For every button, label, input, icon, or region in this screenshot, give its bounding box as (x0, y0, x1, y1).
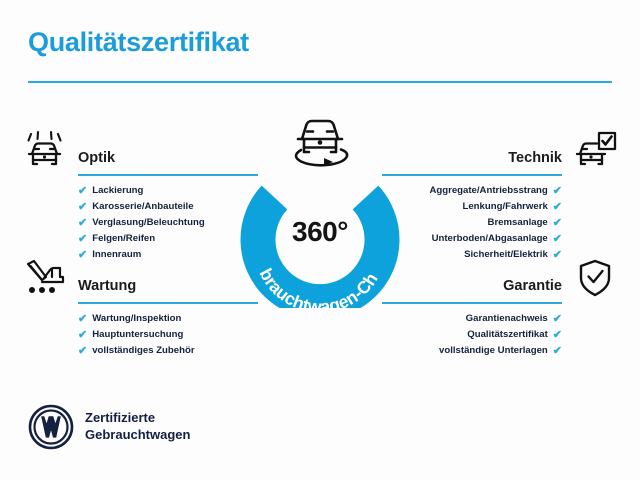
shield-check-icon (572, 258, 618, 300)
section-title: Garantie (503, 278, 562, 294)
list-item-label: Lenkung/Fahrwerk (462, 202, 547, 212)
list-item: vollständige Unterlagen✔ (382, 343, 618, 359)
check-icon: ✔ (78, 202, 87, 213)
section-header: Garantie (382, 258, 618, 304)
check-icon: ✔ (553, 314, 562, 325)
vw-lockup-line1: Zertifizierte (85, 410, 190, 427)
list-item: ✔Felgen/Reifen (22, 231, 258, 247)
certificate-page: Qualitätszertifikat (0, 0, 640, 480)
check-icon: ✔ (553, 234, 562, 245)
wrench-car-icon (22, 258, 68, 300)
list-item-label: Felgen/Reifen (92, 234, 155, 244)
section-technik: Technik Aggregate/Antriebsstrang✔ Lenkun… (382, 130, 618, 263)
check-icon: ✔ (553, 202, 562, 213)
car-checkbox-icon (572, 130, 618, 172)
list-item-label: Unterboden/Abgasanlage (432, 234, 548, 244)
badge-degrees: 360° (236, 216, 404, 248)
vw-logo-icon (28, 404, 74, 450)
list-item-label: Wartung/Inspektion (92, 314, 181, 324)
section-header: Wartung (22, 258, 258, 304)
list-item-label: vollständiges Zubehör (92, 346, 194, 356)
list-item-label: Verglasung/Beleuchtung (92, 218, 204, 228)
car-shine-icon (22, 130, 68, 172)
list-item-label: Aggregate/Antriebsstrang (429, 186, 547, 196)
vw-lockup-text: Zertifizierte Gebrauchtwagen (85, 410, 190, 443)
badge-360-check: Gebrauchtwagen-Check 360° (236, 112, 404, 308)
list-item: ✔Hauptuntersuchung (22, 327, 258, 343)
header: Qualitätszertifikat (28, 28, 612, 58)
list-item: ✔Lackierung (22, 183, 258, 199)
list-item: Aggregate/Antriebsstrang✔ (382, 183, 618, 199)
check-icon: ✔ (78, 314, 87, 325)
list-item: ✔Verglasung/Beleuchtung (22, 215, 258, 231)
list-item-label: Bremsanlage (488, 218, 548, 228)
check-icon: ✔ (553, 330, 562, 341)
car-rotate-icon (283, 112, 357, 168)
check-icon: ✔ (78, 234, 87, 245)
section-title: Wartung (78, 278, 136, 294)
section-divider (78, 174, 258, 176)
page-title: Qualitätszertifikat (28, 28, 612, 58)
check-icon: ✔ (78, 330, 87, 341)
checklist: Garantienachweis✔ Qualitätszertifikat✔ v… (382, 304, 618, 359)
check-icon: ✔ (78, 186, 87, 197)
list-item: ✔Wartung/Inspektion (22, 311, 258, 327)
section-title: Optik (78, 150, 115, 166)
section-divider (382, 174, 562, 176)
list-item: ✔vollständiges Zubehör (22, 343, 258, 359)
section-optik: Optik ✔Lackierung ✔Karosserie/Anbauteile… (22, 130, 258, 263)
section-header: Technik (382, 130, 618, 176)
list-item-label: vollständige Unterlagen (439, 346, 548, 356)
section-divider (78, 302, 258, 304)
list-item: Bremsanlage✔ (382, 215, 618, 231)
list-item: Qualitätszertifikat✔ (382, 327, 618, 343)
check-icon: ✔ (78, 346, 87, 357)
checklist: ✔Wartung/Inspektion ✔Hauptuntersuchung ✔… (22, 304, 258, 359)
section-wartung: Wartung ✔Wartung/Inspektion ✔Hauptunters… (22, 258, 258, 359)
check-icon: ✔ (553, 346, 562, 357)
vw-lockup: Zertifizierte Gebrauchtwagen (28, 404, 190, 450)
section-header: Optik (22, 130, 258, 176)
header-divider (28, 81, 612, 83)
list-item-label: Karosserie/Anbauteile (92, 202, 193, 212)
list-item-label: Garantienachweis (466, 314, 548, 324)
list-item: Lenkung/Fahrwerk✔ (382, 199, 618, 215)
check-icon: ✔ (553, 218, 562, 229)
section-divider (382, 302, 562, 304)
list-item: Garantienachweis✔ (382, 311, 618, 327)
checklist: ✔Lackierung ✔Karosserie/Anbauteile ✔Verg… (22, 176, 258, 263)
check-icon: ✔ (78, 218, 87, 229)
list-item-label: Qualitätszertifikat (467, 330, 548, 340)
list-item: Unterboden/Abgasanlage✔ (382, 231, 618, 247)
list-item-label: Hauptuntersuchung (92, 330, 183, 340)
check-icon: ✔ (553, 186, 562, 197)
checklist: Aggregate/Antriebsstrang✔ Lenkung/Fahrwe… (382, 176, 618, 263)
section-title: Technik (508, 150, 562, 166)
list-item: ✔Karosserie/Anbauteile (22, 199, 258, 215)
section-garantie: Garantie Garantienachweis✔ Qualitätszert… (382, 258, 618, 359)
list-item-label: Lackierung (92, 186, 143, 196)
vw-lockup-line2: Gebrauchtwagen (85, 427, 190, 444)
